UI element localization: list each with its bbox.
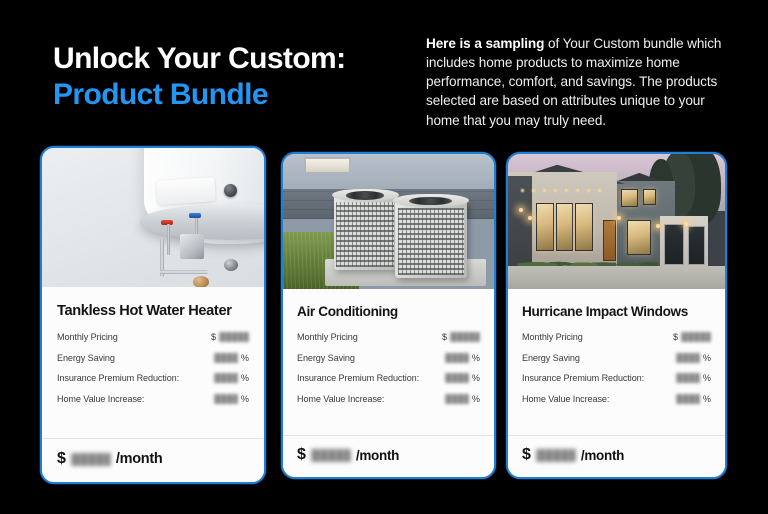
spec-row-home-value-increase: Home Value Increase: % xyxy=(522,394,711,404)
currency-symbol: $ xyxy=(522,446,531,464)
product-card-tankless-hot-water-heater[interactable]: Tankless Hot Water Heater Monthly Pricin… xyxy=(40,146,266,484)
redacted-value xyxy=(681,332,711,342)
window-icon xyxy=(627,220,651,255)
percent-symbol: % xyxy=(703,394,711,404)
spec-value: % xyxy=(214,353,249,363)
spec-label: Monthly Pricing xyxy=(522,332,583,342)
spec-label: Home Value Increase: xyxy=(297,394,384,404)
spec-row-insurance-premium-reduction: Insurance Premium Reduction: % xyxy=(57,373,249,383)
spec-value: % xyxy=(445,353,480,363)
spec-value: % xyxy=(676,353,711,363)
percent-symbol: % xyxy=(703,353,711,363)
percent-symbol: % xyxy=(472,353,480,363)
modern-house-photo xyxy=(508,154,725,289)
currency-symbol: $ xyxy=(442,332,447,342)
spec-value: % xyxy=(214,394,249,404)
redacted-value xyxy=(214,394,238,404)
spec-label: Insurance Premium Reduction: xyxy=(522,373,644,383)
spec-label: Energy Saving xyxy=(57,353,115,363)
spec-row-insurance-premium-reduction: Insurance Premium Reduction: % xyxy=(522,373,711,383)
spec-row-home-value-increase: Home Value Increase: % xyxy=(57,394,249,404)
slide-root: Unlock Your Custom: Product Bundle Here … xyxy=(0,0,768,514)
spec-row-home-value-increase: Home Value Increase: % xyxy=(297,394,480,404)
window-icon xyxy=(575,203,592,252)
redacted-value xyxy=(214,353,238,363)
eave-lights-icon xyxy=(521,189,603,192)
spec-label: Insurance Premium Reduction: xyxy=(57,373,179,383)
window-icon xyxy=(536,203,553,252)
card-body: Hurricane Impact Windows Monthly Pricing… xyxy=(508,289,725,435)
price-unit-label: /month xyxy=(581,448,624,463)
spec-row-monthly-pricing: Monthly Pricing $ xyxy=(57,332,249,342)
condenser-unit-icon xyxy=(395,200,467,278)
spec-value: $ xyxy=(442,332,480,342)
redacted-value xyxy=(676,394,700,404)
window-icon xyxy=(621,189,638,207)
spec-label: Energy Saving xyxy=(522,353,580,363)
redacted-price xyxy=(71,453,111,466)
percent-symbol: % xyxy=(703,373,711,383)
price-unit-label: /month xyxy=(356,448,399,463)
card-body: Tankless Hot Water Heater Monthly Pricin… xyxy=(42,287,264,438)
spec-label: Energy Saving xyxy=(297,353,355,363)
currency-symbol: $ xyxy=(673,332,678,342)
spec-row-insurance-premium-reduction: Insurance Premium Reduction: % xyxy=(297,373,480,383)
spec-value: % xyxy=(445,373,480,383)
redacted-value xyxy=(450,332,480,342)
redacted-value xyxy=(219,332,249,342)
redacted-price xyxy=(536,449,576,462)
spec-label: Home Value Increase: xyxy=(522,394,609,404)
spec-row-energy-saving: Energy Saving % xyxy=(57,353,249,363)
redacted-value xyxy=(676,353,700,363)
card-price-footer: $ /month xyxy=(283,435,494,477)
spec-value: % xyxy=(445,394,480,404)
spec-value: % xyxy=(214,373,249,383)
currency-symbol: $ xyxy=(211,332,216,342)
spec-value: $ xyxy=(211,332,249,342)
percent-symbol: % xyxy=(241,353,249,363)
redacted-value xyxy=(214,373,238,383)
water-heater-photo xyxy=(42,148,264,287)
percent-symbol: % xyxy=(241,373,249,383)
card-title: Tankless Hot Water Heater xyxy=(57,303,249,319)
spec-label: Monthly Pricing xyxy=(57,332,118,342)
air-conditioner-photo xyxy=(283,154,494,289)
window-icon xyxy=(643,189,656,205)
spec-row-monthly-pricing: Monthly Pricing $ xyxy=(522,332,711,342)
redacted-value xyxy=(676,373,700,383)
product-card-air-conditioning[interactable]: Air Conditioning Monthly Pricing $ Energ… xyxy=(281,152,496,479)
card-title: Air Conditioning xyxy=(297,304,480,319)
spec-label: Insurance Premium Reduction: xyxy=(297,373,419,383)
condenser-unit-icon xyxy=(334,195,397,271)
window-icon xyxy=(556,203,573,252)
redacted-value xyxy=(445,394,469,404)
percent-symbol: % xyxy=(241,394,249,404)
percent-symbol: % xyxy=(472,394,480,404)
product-card-list: Tankless Hot Water Heater Monthly Pricin… xyxy=(0,0,768,514)
spec-row-energy-saving: Energy Saving % xyxy=(522,353,711,363)
redacted-price xyxy=(311,449,351,462)
card-title: Hurricane Impact Windows xyxy=(522,304,711,319)
card-price-footer: $ /month xyxy=(42,438,264,482)
currency-symbol: $ xyxy=(297,446,306,464)
price-unit-label: /month xyxy=(116,451,163,467)
spec-label: Home Value Increase: xyxy=(57,394,144,404)
spec-value: % xyxy=(676,373,711,383)
currency-symbol: $ xyxy=(57,450,66,468)
card-price-footer: $ /month xyxy=(508,435,725,477)
percent-symbol: % xyxy=(472,373,480,383)
product-card-hurricane-impact-windows[interactable]: Hurricane Impact Windows Monthly Pricing… xyxy=(506,152,727,479)
spec-value: % xyxy=(676,394,711,404)
redacted-value xyxy=(445,373,469,383)
redacted-value xyxy=(445,353,469,363)
spec-row-energy-saving: Energy Saving % xyxy=(297,353,480,363)
spec-row-monthly-pricing: Monthly Pricing $ xyxy=(297,332,480,342)
spec-value: $ xyxy=(673,332,711,342)
spec-label: Monthly Pricing xyxy=(297,332,358,342)
card-body: Air Conditioning Monthly Pricing $ Energ… xyxy=(283,289,494,435)
